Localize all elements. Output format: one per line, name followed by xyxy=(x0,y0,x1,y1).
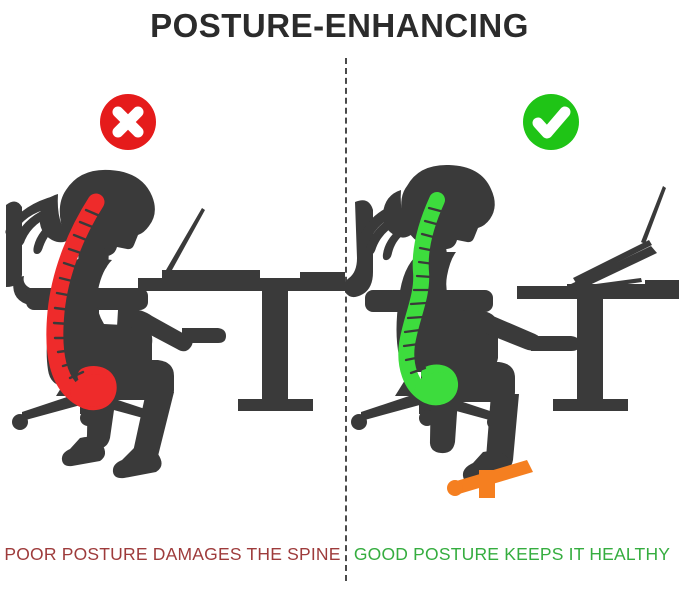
caption-bad-posture: POOR POSTURE DAMAGES THE SPINE xyxy=(0,541,345,567)
laptop-left xyxy=(162,208,260,279)
figure-good-posture xyxy=(358,165,580,483)
figure-bad-posture xyxy=(5,170,226,478)
cross-mark-icon xyxy=(100,94,156,150)
infographic-root: POSTURE-ENHANCING xyxy=(0,0,679,600)
caption-good-posture: GOOD POSTURE KEEPS IT HEALTHY xyxy=(345,541,679,567)
panel-good-posture xyxy=(345,60,679,520)
scene-bad-posture xyxy=(0,160,345,520)
scene-good-posture xyxy=(345,160,679,520)
check-mark-icon xyxy=(523,94,579,150)
laptop-stand-right xyxy=(567,246,667,291)
panel-bad-posture xyxy=(0,60,345,520)
page-title: POSTURE-ENHANCING xyxy=(0,0,679,52)
